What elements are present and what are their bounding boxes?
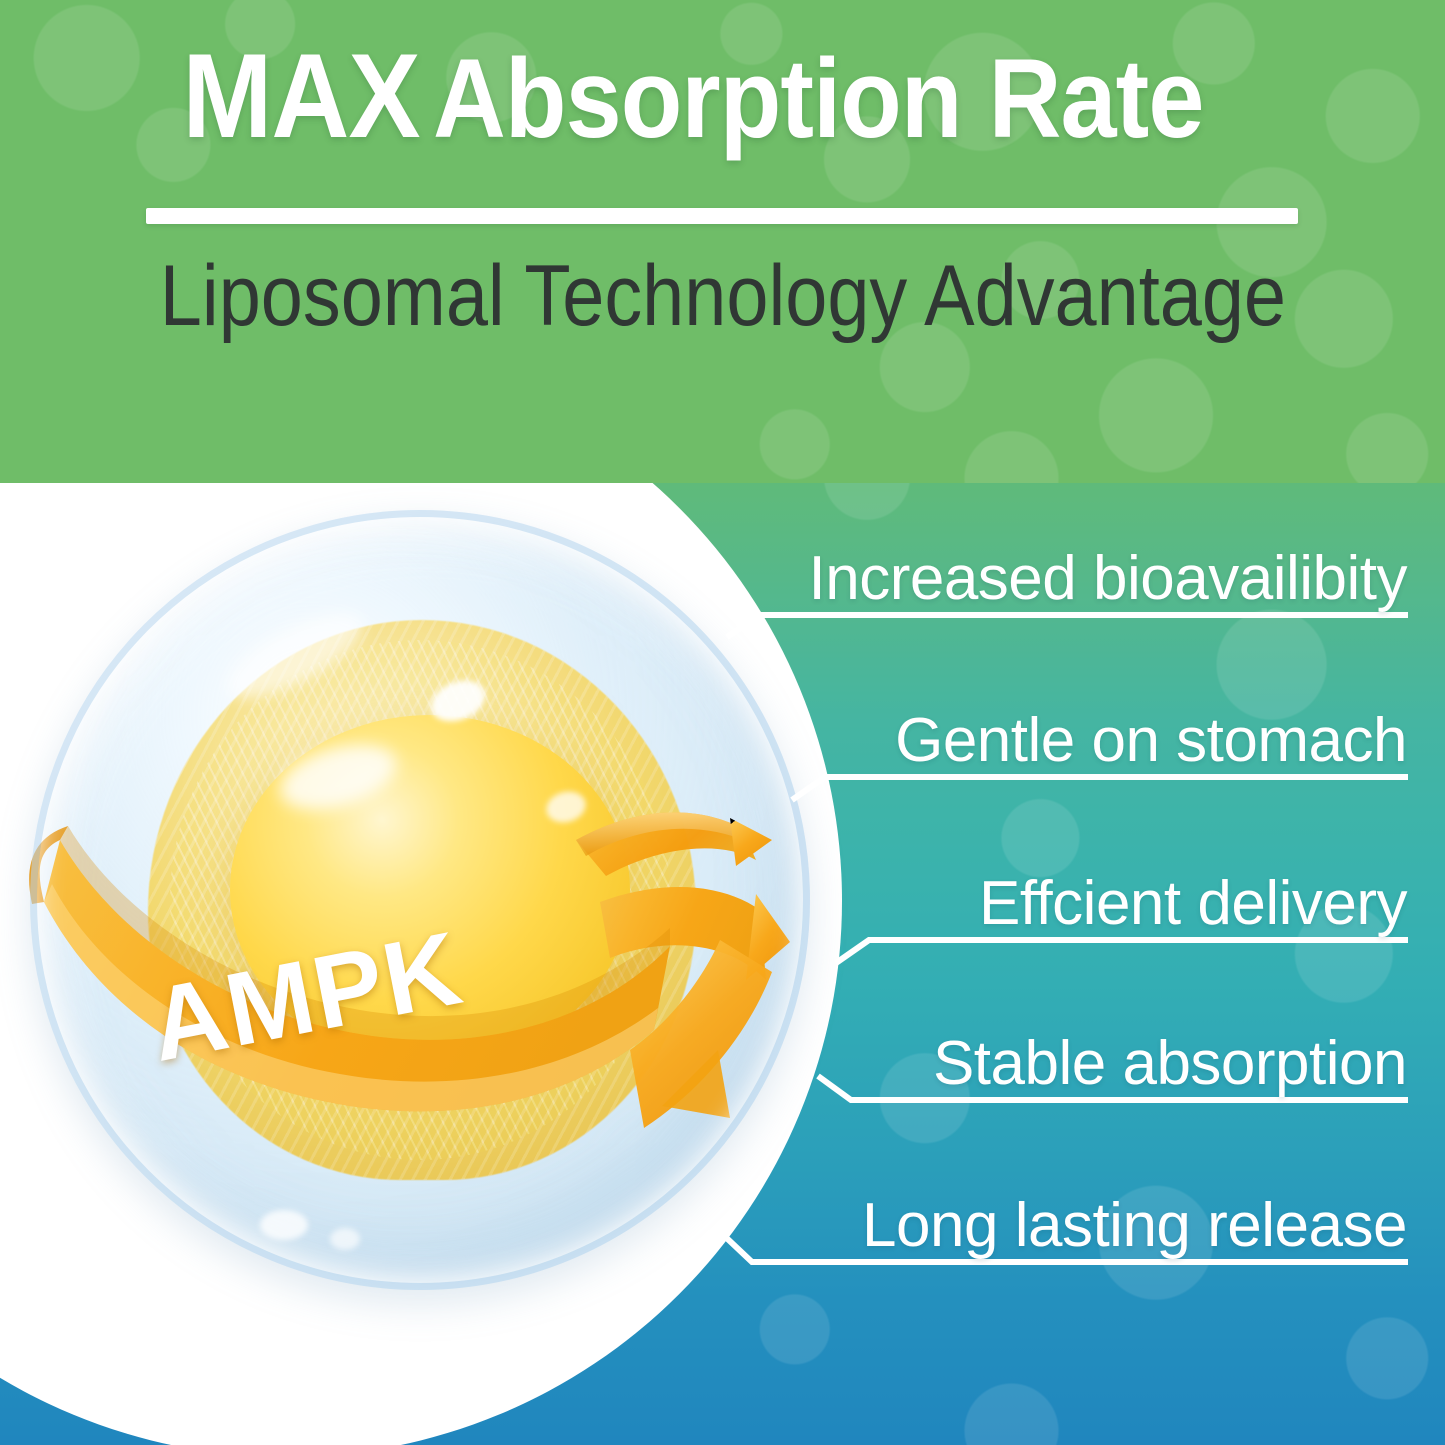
feature-label-long-lasting-release: Long lasting release bbox=[862, 1195, 1407, 1257]
header-band: MAXAbsorption Rate Liposomal Technology … bbox=[0, 0, 1445, 483]
page-title-rest: Absorption Rate bbox=[433, 43, 1204, 155]
feature-label-gentle-on-stomach: Gentle on stomach bbox=[895, 710, 1407, 772]
page-subtitle-text: Liposomal Technology Advantage bbox=[159, 248, 1285, 344]
feature-label-stable-absorption: Stable absorption bbox=[933, 1033, 1407, 1095]
infographic-poster: AMPK Increased bioavailibity Gentle on s… bbox=[0, 0, 1445, 1445]
page-title-emphasis: MAX bbox=[182, 36, 419, 156]
page-subtitle: Liposomal Technology Advantage bbox=[0, 248, 1445, 344]
header-divider bbox=[146, 208, 1298, 224]
feature-label-increased-bioavailibity: Increased bioavailibity bbox=[808, 548, 1407, 610]
page-title: MAXAbsorption Rate bbox=[0, 36, 1445, 156]
feature-label-effcient-delivery: Effcient delivery bbox=[979, 873, 1407, 935]
